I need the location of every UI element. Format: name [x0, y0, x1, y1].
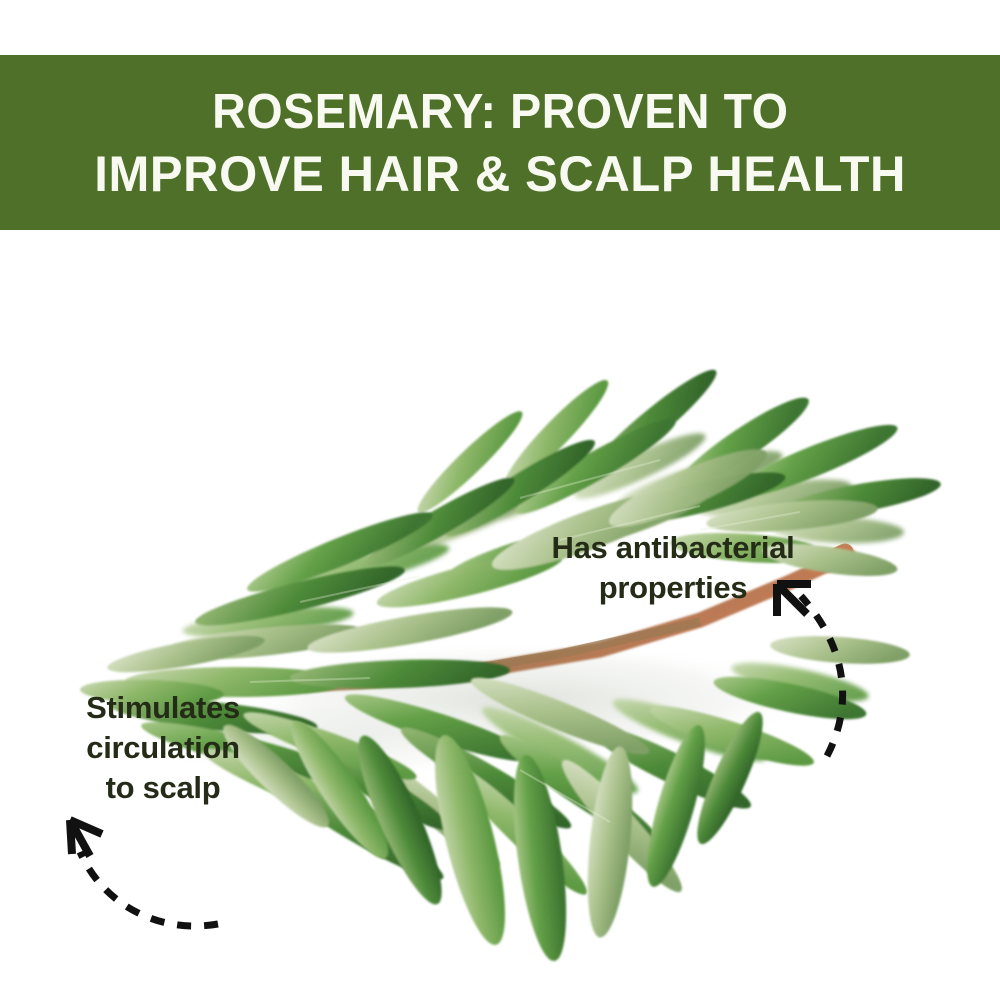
arrow-to-antibacterial — [755, 560, 875, 760]
callout-circulation-line-3: to scalp — [58, 768, 268, 808]
callout-circulation-line-1: Stimulates — [58, 688, 268, 728]
callout-circulation-line-2: circulation — [58, 728, 268, 768]
header-title-line-1: ROSEMARY: PROVEN TO — [212, 81, 788, 143]
photo-area: Has antibacterial properties Stimulates … — [0, 230, 1000, 1000]
header-title-line-2: IMPROVE HAIR & SCALP HEALTH — [94, 143, 906, 205]
arrow-to-circulation — [50, 808, 230, 938]
infographic-page: ROSEMARY: PROVEN TO IMPROVE HAIR & SCALP… — [0, 0, 1000, 1000]
callout-circulation: Stimulates circulation to scalp — [58, 688, 268, 808]
header-banner: ROSEMARY: PROVEN TO IMPROVE HAIR & SCALP… — [0, 55, 1000, 230]
